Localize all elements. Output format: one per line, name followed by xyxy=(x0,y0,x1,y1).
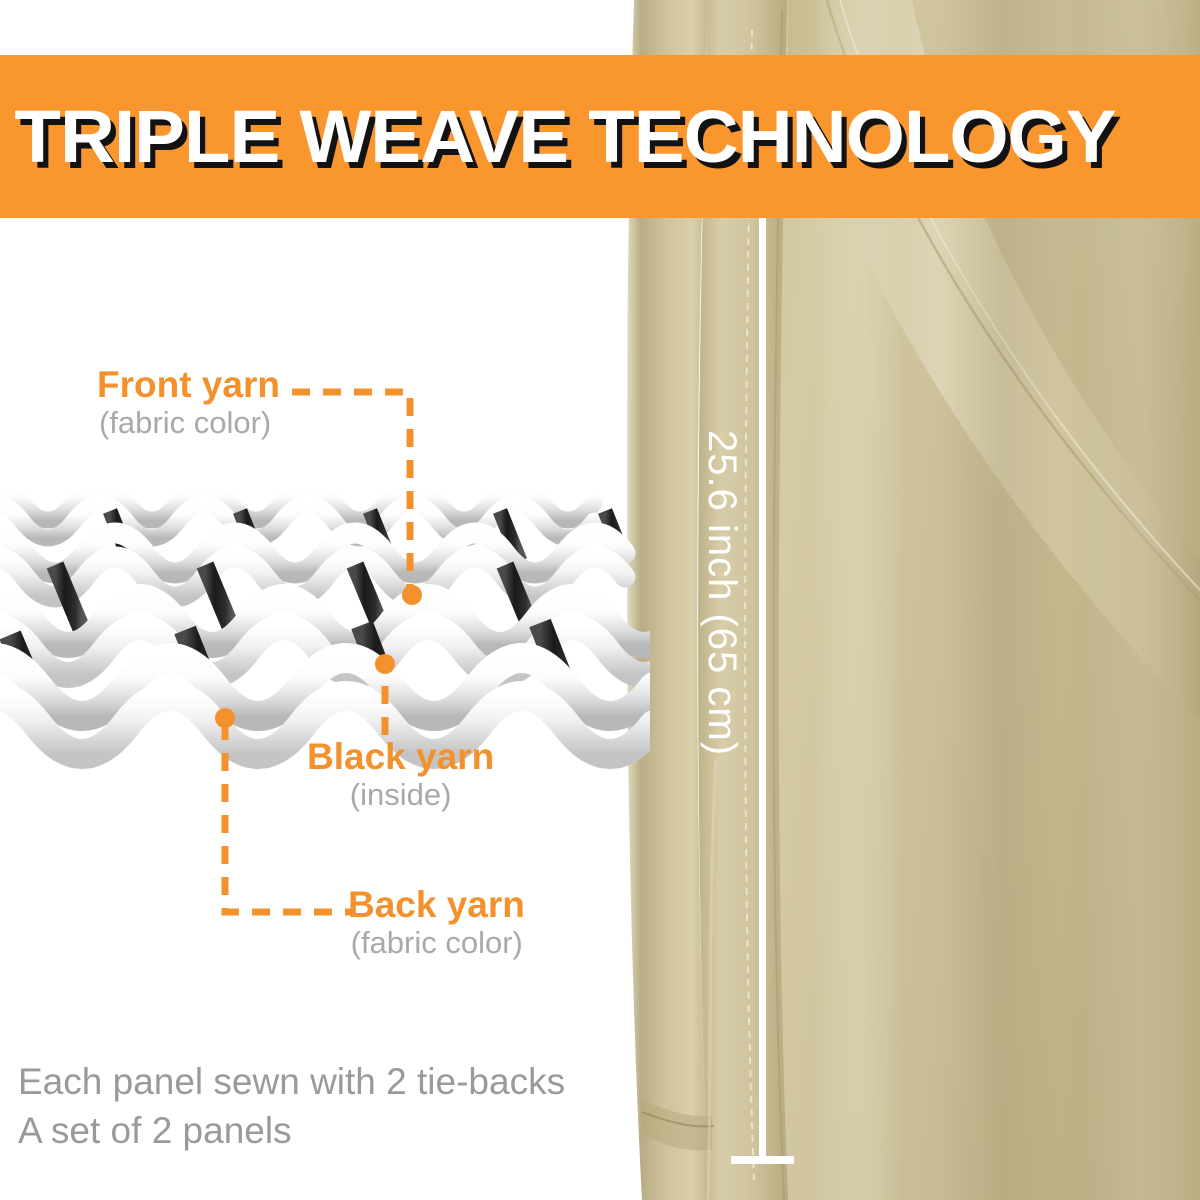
callout-black-yarn: Black yarn (inside) xyxy=(307,738,494,812)
callout-front-yarn-sublabel: (fabric color) xyxy=(97,405,280,441)
callout-back-yarn-label: Back yarn xyxy=(348,886,525,925)
callout-back-yarn-sublabel: (fabric color) xyxy=(348,925,525,961)
woven-yarn-illustration xyxy=(0,425,650,785)
infographic-page: Front yarn (fabric color) Black yarn (in… xyxy=(0,0,1200,1200)
weave-svg xyxy=(0,425,650,785)
dimension-bottom-cap xyxy=(731,1156,794,1164)
bottom-notes: Each panel sewn with 2 tie-backs A set o… xyxy=(18,1057,565,1155)
banner-title: TRIPLE WEAVE TECHNOLOGY xyxy=(0,100,1116,174)
callout-front-yarn: Front yarn (fabric color) xyxy=(97,366,280,440)
banner: TRIPLE WEAVE TECHNOLOGY xyxy=(0,55,1200,218)
callout-black-yarn-label: Black yarn xyxy=(307,738,494,777)
callout-front-yarn-label: Front yarn xyxy=(97,366,280,405)
callout-back-yarn: Back yarn (fabric color) xyxy=(348,886,525,960)
dimension-label: 25.6 inch (65 cm) xyxy=(699,430,744,756)
note-line-1: Each panel sewn with 2 tie-backs xyxy=(18,1057,565,1106)
callout-black-yarn-sublabel: (inside) xyxy=(307,777,494,813)
dimension-line xyxy=(759,218,766,1163)
note-line-2: A set of 2 panels xyxy=(18,1106,565,1155)
